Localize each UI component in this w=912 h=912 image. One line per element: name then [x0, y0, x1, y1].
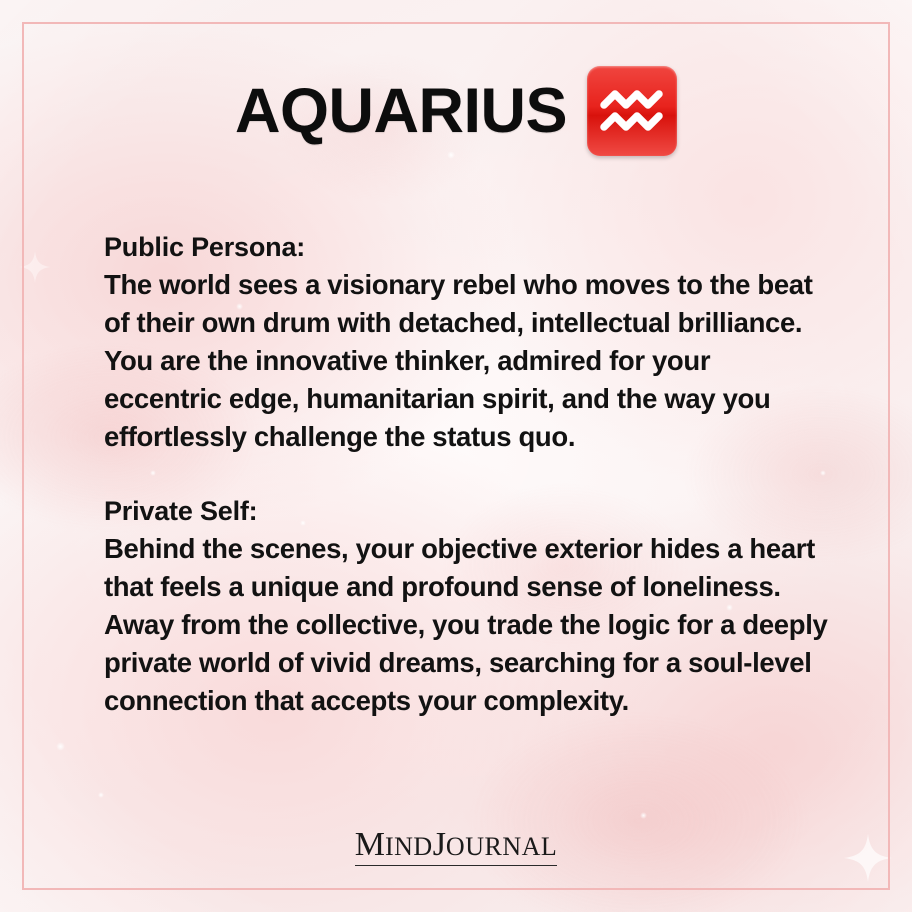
page-title: AQUARIUS: [235, 80, 567, 143]
logo-initial-m: M: [355, 826, 385, 863]
section-public-persona: Public Persona: The world sees a visiona…: [104, 228, 834, 456]
brand-logo: MINDJOURNAL: [0, 828, 912, 866]
section-heading: Private Self:: [104, 492, 834, 530]
section-body: The world sees a visionary rebel who mov…: [104, 266, 834, 456]
sparkle-dot: [56, 742, 65, 751]
aquarius-zodiac-emoji: [587, 66, 677, 156]
section-heading: Public Persona:: [104, 228, 834, 266]
sparkle-star-icon: [18, 250, 52, 284]
zodiac-poster: AQUARIUS Public Persona: The world sees …: [0, 0, 912, 912]
sparkle-dot: [98, 792, 104, 798]
brand-logo-wordmark: MINDJOURNAL: [355, 828, 558, 866]
logo-text-ind: IND: [385, 832, 433, 861]
section-private-self: Private Self: Behind the scenes, your ob…: [104, 492, 834, 720]
section-body: Behind the scenes, your objective exteri…: [104, 530, 834, 720]
logo-initial-j: J: [433, 826, 446, 863]
poster-body: Public Persona: The world sees a visiona…: [104, 228, 834, 720]
logo-text-ournal: OURNAL: [446, 832, 557, 861]
poster-header: AQUARIUS: [0, 66, 912, 156]
sparkle-dot: [640, 812, 647, 819]
